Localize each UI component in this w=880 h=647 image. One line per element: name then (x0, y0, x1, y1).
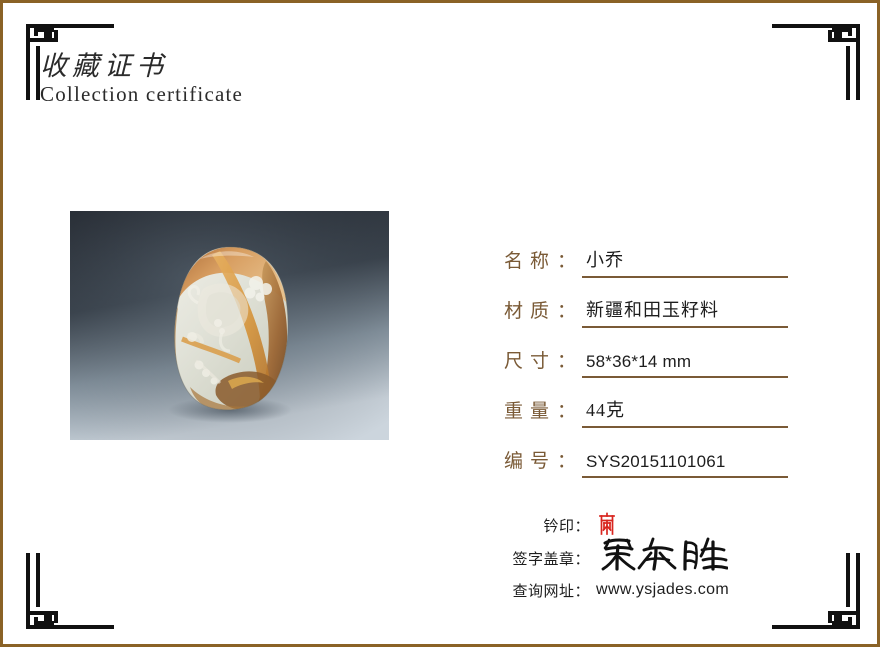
page-title: 收藏证书 Collection certificate (40, 52, 460, 107)
field-row-serial: 编 号 ： SYS20151101061 (504, 442, 804, 492)
field-label-char-2: 号 (530, 446, 549, 473)
field-label-char-1: 尺 (504, 346, 523, 373)
corner-ornament-top-right (772, 16, 868, 100)
field-label-colon: ： (557, 446, 576, 473)
signature-content (596, 542, 728, 574)
field-label-colon: ： (557, 346, 576, 373)
handwritten-signature-icon (596, 534, 728, 574)
certificate-footer: 钤印： (504, 511, 804, 603)
footer-row-website: 查询网址： www.ysjades.com (504, 577, 804, 603)
product-photo (70, 211, 389, 440)
field-label-char-1: 名 (504, 246, 523, 273)
field-value-material: 新疆和田玉籽料 (586, 296, 719, 322)
field-label-char-2: 量 (530, 396, 549, 423)
field-label-char-1: 材 (504, 296, 523, 323)
field-value-name: 小乔 (586, 246, 624, 272)
field-label-material: 材 质 ： (504, 296, 576, 323)
field-value-serial: SYS20151101061 (586, 452, 726, 472)
website-url[interactable]: www.ysjades.com (596, 581, 729, 599)
footer-row-signature: 签字盖章： (504, 539, 804, 577)
field-label-colon: ： (557, 246, 576, 273)
certificate-paper: 收藏证书 Collection certificate (6, 6, 880, 647)
field-underline-serial: SYS20151101061 (582, 442, 788, 478)
field-value-size: 58*36*14 mm (586, 352, 691, 372)
field-label-size: 尺 寸 ： (504, 346, 576, 373)
field-underline-weight: 44克 (582, 392, 788, 428)
field-label-char-2: 寸 (530, 346, 549, 373)
field-label-char-2: 质 (530, 296, 549, 323)
seal-label: 钤印： (543, 515, 590, 536)
page-title-english: Collection certificate (40, 82, 460, 107)
field-row-material: 材 质 ： 新疆和田玉籽料 (504, 292, 804, 342)
website-label: 查询网址： (512, 580, 590, 601)
field-underline-name: 小乔 (582, 242, 788, 278)
field-underline-size: 58*36*14 mm (582, 342, 788, 378)
signature-label: 签字盖章： (512, 548, 590, 569)
field-label-serial: 编 号 ： (504, 446, 576, 473)
field-label-colon: ： (557, 396, 576, 423)
certificate-fields: 名 称 ： 小乔 材 质 ： 新疆和田玉籽料 (504, 242, 804, 492)
field-row-name: 名 称 ： 小乔 (504, 242, 804, 292)
field-label-char-2: 称 (530, 246, 549, 273)
field-label-char-1: 重 (504, 396, 523, 423)
field-label-colon: ： (557, 296, 576, 323)
page-title-chinese: 收藏证书 (40, 52, 460, 80)
field-row-weight: 重 量 ： 44克 (504, 392, 804, 442)
certificate-page: 收藏证书 Collection certificate (0, 0, 880, 647)
field-underline-material: 新疆和田玉籽料 (582, 292, 788, 328)
corner-ornament-bottom-left (18, 553, 114, 637)
field-label-weight: 重 量 ： (504, 396, 576, 423)
field-value-weight: 44克 (586, 396, 625, 422)
field-label-name: 名 称 ： (504, 246, 576, 273)
field-label-char-1: 编 (504, 446, 523, 473)
field-row-size: 尺 寸 ： 58*36*14 mm (504, 342, 804, 392)
red-seal-icon (596, 512, 618, 536)
seal-content (596, 514, 618, 536)
website-content: www.ysjades.com (596, 581, 729, 599)
